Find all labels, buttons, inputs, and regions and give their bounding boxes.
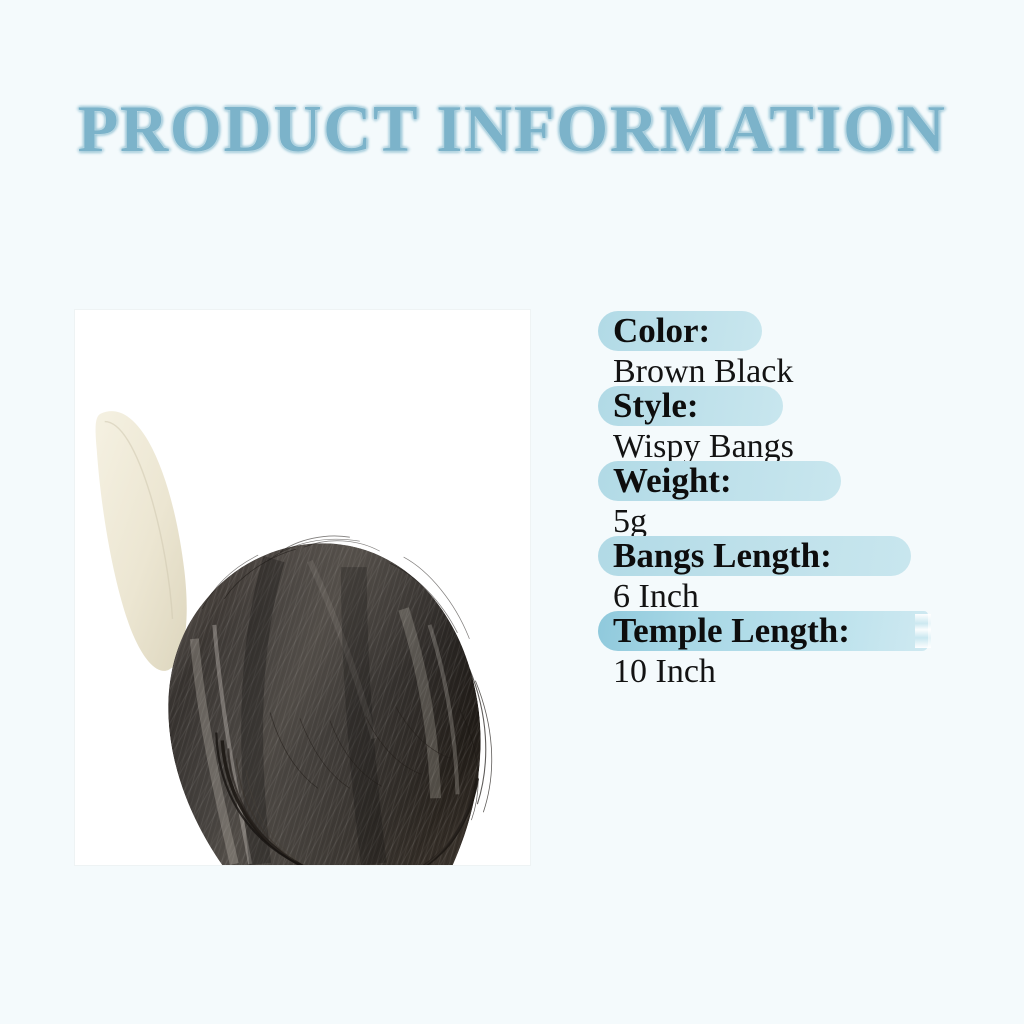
spec-label-container: Temple Length: [598, 609, 859, 653]
product-photo-hair-bangs [75, 310, 530, 865]
spec-row: Color: Brown Black [598, 309, 998, 384]
spec-row: Bangs Length: 6 Inch [598, 534, 998, 609]
spec-label: Weight: [598, 459, 741, 503]
spec-label: Temple Length: [598, 609, 859, 653]
spec-label: Color: [598, 309, 719, 353]
spec-label: Bangs Length: [598, 534, 841, 578]
spec-row: Temple Length: 10 Inch [598, 609, 998, 684]
spec-value: 10 Inch [613, 653, 716, 691]
product-image-panel [74, 309, 531, 866]
spec-label-container: Bangs Length: [598, 534, 841, 578]
page-title-container: PRODUCT INFORMATION [0, 96, 1024, 163]
spec-row: Weight: 5g [598, 459, 998, 534]
product-information-graphic: PRODUCT INFORMATION [0, 0, 1024, 1024]
spec-label-container: Color: [598, 309, 719, 353]
spec-label: Style: [598, 384, 708, 428]
specification-list: Color: Brown Black Style: Wispy Bangs We… [598, 309, 998, 684]
spec-label-container: Style: [598, 384, 708, 428]
spec-row: Style: Wispy Bangs [598, 384, 998, 459]
page-title: PRODUCT INFORMATION [77, 96, 946, 163]
spec-label-container: Weight: [598, 459, 741, 503]
